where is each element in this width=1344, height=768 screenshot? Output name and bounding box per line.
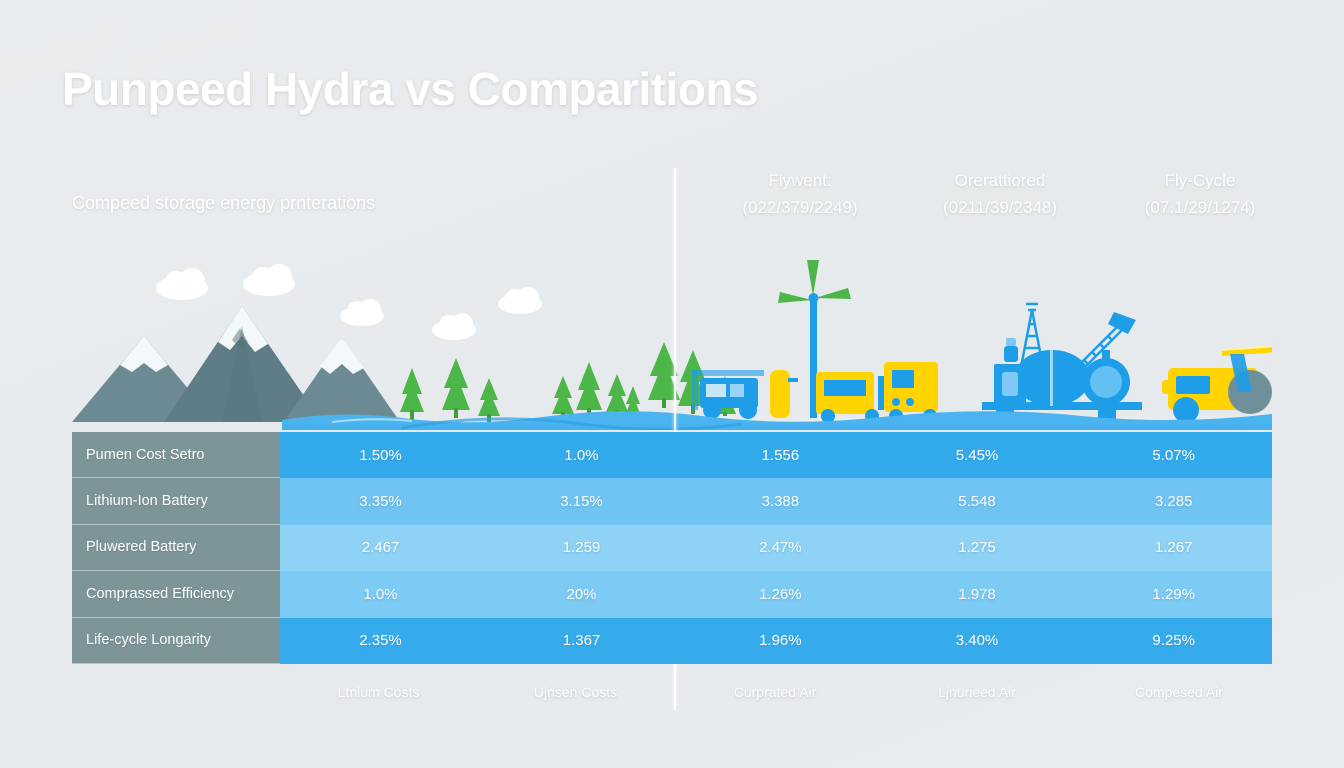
table-row: Pumen Cost Setro 1.50% 1.0% 1.556 5.45% … <box>72 432 1272 478</box>
table-cell: 3.285 <box>1075 478 1272 525</box>
table-cell: 1.0% <box>481 432 682 478</box>
column-header-2-code: (0211/39/2348) <box>900 194 1100 222</box>
row-cells: 2.35% 1.367 1.96% 3.40% 9.25% <box>280 618 1272 665</box>
table-cell: 5.07% <box>1075 432 1272 478</box>
comparison-table: Pumen Cost Setro 1.50% 1.0% 1.556 5.45% … <box>72 432 1272 680</box>
column-header-1-code: (022/379/2249) <box>700 194 900 222</box>
column-header-2: Orerattiored (0211/39/2348) <box>900 168 1100 230</box>
row-cells: 2.467 1.259 2.47% 1.275 1.267 <box>280 525 1272 572</box>
table-row: Life-cycle Longarity 2.35% 1.367 1.96% 3… <box>72 618 1272 665</box>
table-cell: 1.259 <box>481 525 682 572</box>
pine-tree-icon <box>400 342 736 423</box>
table-cell: 9.25% <box>1075 618 1272 665</box>
table-cell: 1.267 <box>1075 525 1272 572</box>
footer-label-4: Ljnurieed Air <box>876 684 1078 710</box>
column-header-3-name: Fly-Cycle <box>1100 168 1300 194</box>
row-label: Life-cycle Longarity <box>72 618 280 665</box>
row-label: Pumen Cost Setro <box>72 432 280 478</box>
column-headers: Flywent: (022/379/2249) Orerattiored (02… <box>700 168 1300 230</box>
table-cell: 2.467 <box>280 525 481 572</box>
column-header-3-code: (07.1/29/1274) <box>1100 194 1300 222</box>
poster-canvas: Punpeed Hydra vs Comparitions Compeed st… <box>0 0 1344 768</box>
cloud-icon <box>156 264 542 340</box>
table-cell: 1.26% <box>682 571 879 618</box>
wind-turbine-truck-group <box>692 260 938 423</box>
footer-label-5: Compesed Air <box>1078 684 1280 710</box>
row-label: Comprassed Efficiency <box>72 571 280 618</box>
table-cell: 20% <box>481 571 682 618</box>
table-cell: 5.45% <box>879 432 1076 478</box>
column-header-1: Flywent: (022/379/2249) <box>700 168 900 230</box>
table-row: Pluwered Battery 2.467 1.259 2.47% 1.275… <box>72 525 1272 572</box>
column-header-2-name: Orerattiored <box>900 168 1100 194</box>
table-cell: 1.29% <box>1075 571 1272 618</box>
row-cells: 3.35% 3.15% 3.388 5.548 3.285 <box>280 478 1272 525</box>
table-cell: 3.40% <box>879 618 1076 665</box>
table-cell: 1.96% <box>682 618 879 665</box>
table-cell: 1.0% <box>280 571 481 618</box>
table-cell: 3.35% <box>280 478 481 525</box>
table-row: Lithium-Ion Battery 3.35% 3.15% 3.388 5.… <box>72 478 1272 525</box>
page-subtitle: Compeed storage energy prnterations <box>72 193 375 214</box>
table-row: Comprassed Efficiency 1.0% 20% 1.26% 1.9… <box>72 571 1272 618</box>
table-cell: 5.548 <box>879 478 1076 525</box>
table-cell: 1.367 <box>481 618 682 665</box>
table-cell: 1.50% <box>280 432 481 478</box>
table-cell: 1.275 <box>879 525 1076 572</box>
illustration-scene <box>72 250 1272 430</box>
footer-labels: Ltnium Costs Ujnsen Costs Curprated Air … <box>280 684 1280 710</box>
row-label: Lithium-Ion Battery <box>72 478 280 525</box>
footer-label-3: Curprated Air <box>674 684 876 710</box>
table-cell: 3.388 <box>682 478 879 525</box>
column-header-3: Fly-Cycle (07.1/29/1274) <box>1100 168 1300 230</box>
table-cell: 2.35% <box>280 618 481 665</box>
page-title: Punpeed Hydra vs Comparitions <box>62 62 758 116</box>
construction-crane-group <box>1162 342 1272 423</box>
row-cells: 1.50% 1.0% 1.556 5.45% 5.07% <box>280 432 1272 478</box>
row-label: Pluwered Battery <box>72 525 280 572</box>
column-header-1-name: Flywent: <box>700 168 900 194</box>
gas-storage-rig-group <box>982 304 1142 422</box>
table-cell: 1.978 <box>879 571 1076 618</box>
table-cell: 2.47% <box>682 525 879 572</box>
footer-label-2: Ujnsen Costs <box>477 684 674 710</box>
table-cell: 1.556 <box>682 432 879 478</box>
table-cell: 3.15% <box>481 478 682 525</box>
wind-turbine-icon <box>810 298 817 418</box>
row-cells: 1.0% 20% 1.26% 1.978 1.29% <box>280 571 1272 618</box>
footer-label-1: Ltnium Costs <box>280 684 477 710</box>
